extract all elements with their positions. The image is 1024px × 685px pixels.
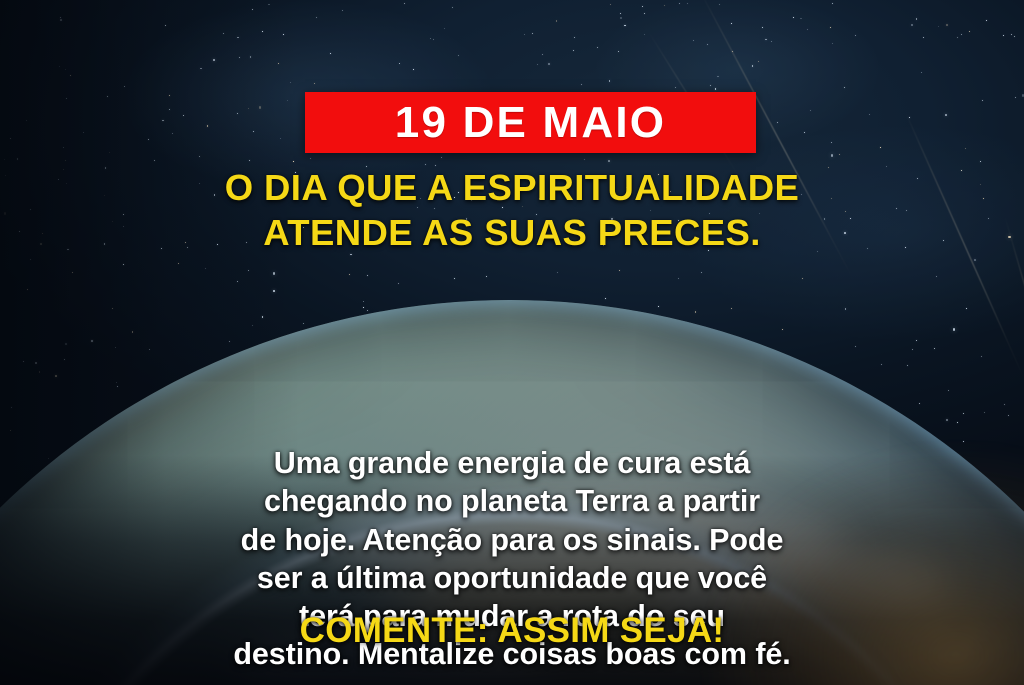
poster-content: 19 DE MAIO O DIA QUE A ESPIRITUALIDADE A…	[0, 0, 1024, 685]
poster-canvas: 19 DE MAIO O DIA QUE A ESPIRITUALIDADE A…	[0, 0, 1024, 685]
date-banner: 19 DE MAIO	[305, 92, 756, 153]
date-banner-label: 19 DE MAIO	[395, 101, 666, 145]
headline: O DIA QUE A ESPIRITUALIDADE ATENDE AS SU…	[0, 166, 1024, 255]
headline-line-1: O DIA QUE A ESPIRITUALIDADE	[40, 166, 984, 211]
call-to-action: COMENTE: ASSIM SEJA!	[0, 612, 1024, 651]
body-line-3: de hoje. Atenção para os sinais. Pode	[22, 521, 1002, 559]
body-line-4: ser a última oportunidade que você	[22, 559, 1002, 597]
body-line-1: Uma grande energia de cura está	[22, 444, 1002, 482]
call-to-action-label: COMENTE: ASSIM SEJA!	[300, 611, 725, 650]
body-line-2: chegando no planeta Terra a partir	[22, 482, 1002, 520]
headline-line-2: ATENDE AS SUAS PRECES.	[40, 211, 984, 256]
